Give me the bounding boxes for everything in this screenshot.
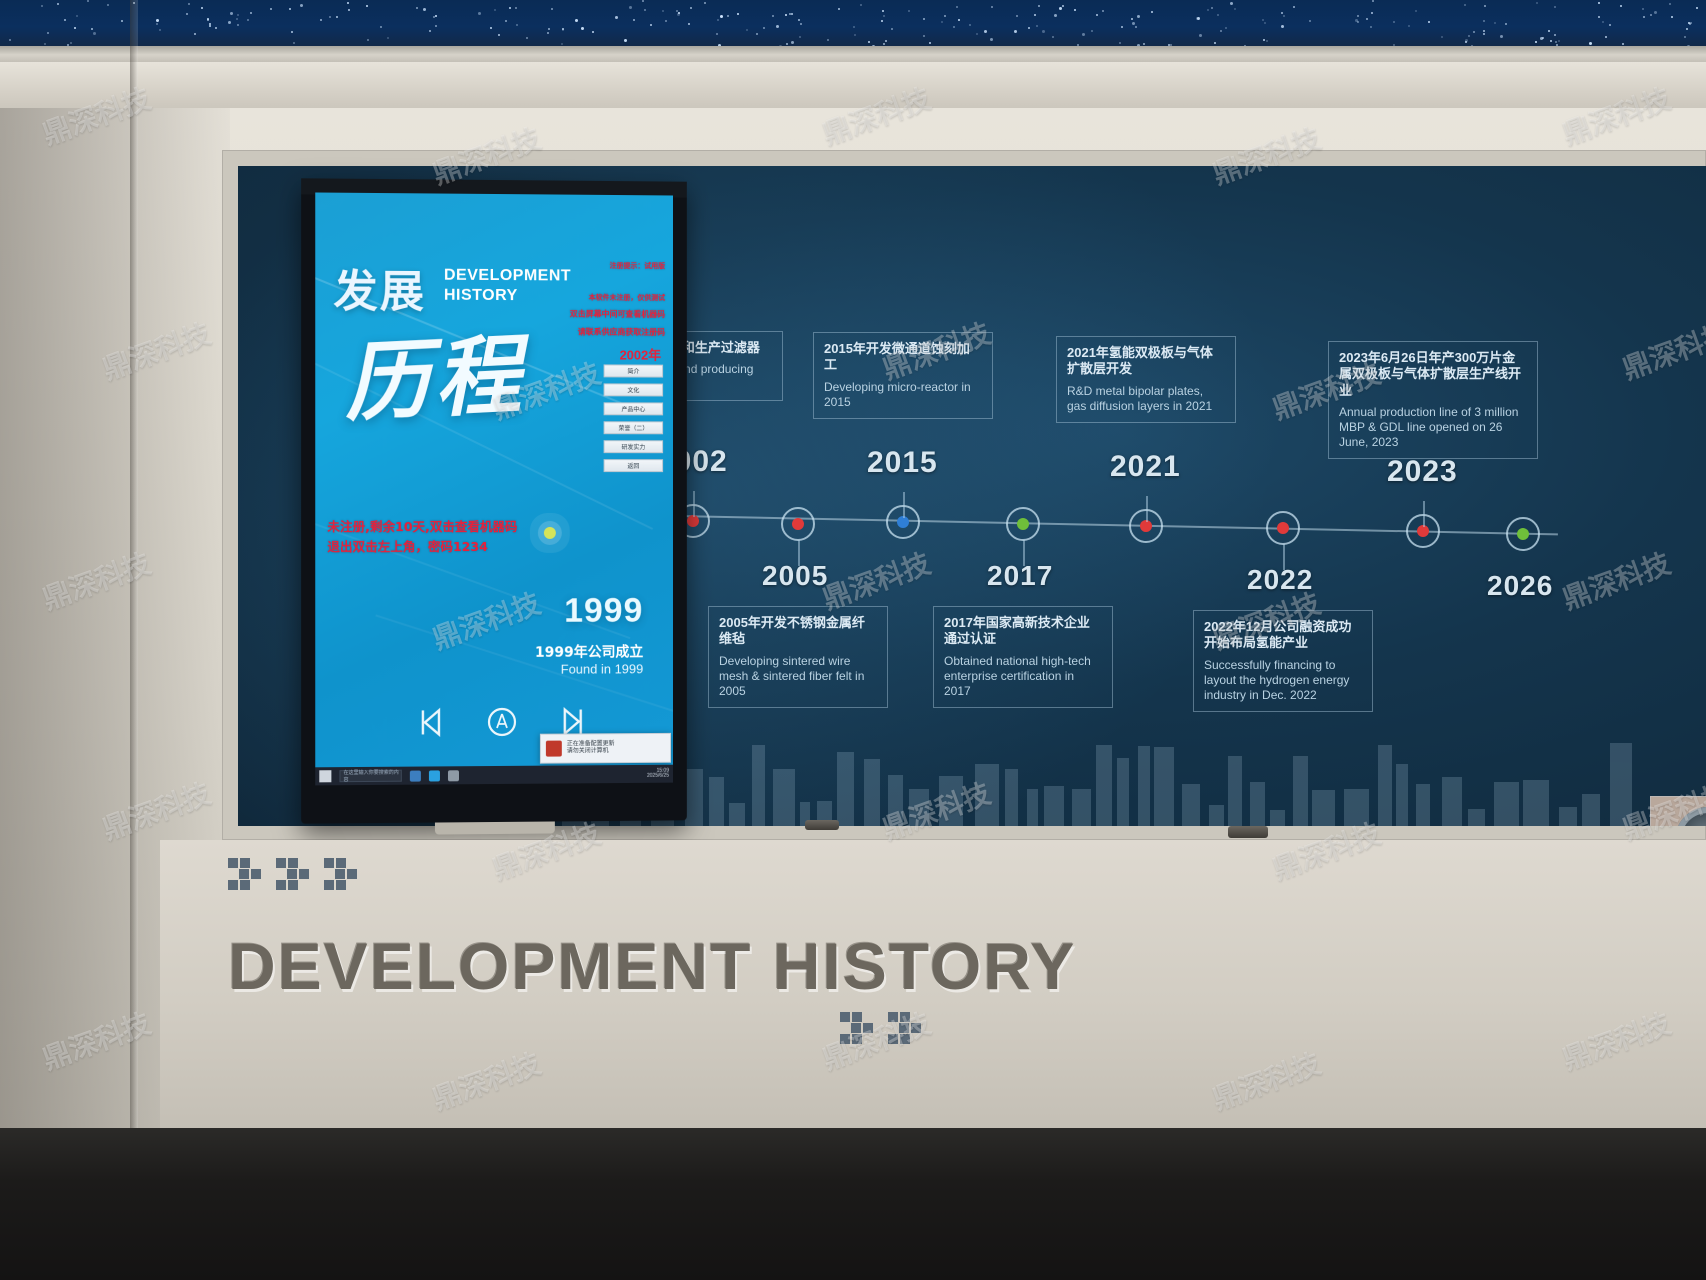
timeline-year-2026: 2026 [1487,570,1553,602]
selected-year-zh: 1999年公司成立 [535,641,643,661]
trial-overlay-line-2: 本软件未注册，仅供测试 [589,293,665,303]
app-menu-item-4[interactable]: 研发实力 [604,440,664,453]
timeline-stem [1283,544,1285,570]
chevron-row-bottom [840,1012,922,1046]
timeline-pulse-dot [544,527,556,539]
monitor-stand [435,821,555,834]
taskbar-clock[interactable]: 15:09 2025/6/25 [647,768,669,779]
floor [0,1128,1706,1280]
taskbar-search-input[interactable]: 在这里输入你要搜索的内容 [339,770,401,783]
timeline-card-en: R&D metal bipolar plates, gas diffusion … [1067,384,1225,414]
timeline-year-2017: 2017 [987,560,1053,592]
explorer-icon[interactable] [410,770,421,781]
timeline-card-en: Developing sintered wire mesh & sintered… [719,654,877,699]
timeline-node-ring [781,507,815,541]
trial-overlay-line-4: 请联系供应商获取注册码 [578,326,665,337]
timeline-card-en: Obtained national high-tech enterprise c… [944,654,1102,699]
chevron-icon [888,1012,922,1046]
timeline-card-en: Successfully financing to layout the hyd… [1204,658,1362,703]
timeline-stem [1146,496,1148,522]
chevron-icon [228,858,262,892]
timeline-card-zh: 2023年6月26日年产300万片金属双极板与气体扩散层生产线开业 [1339,350,1527,399]
toast-app-icon [546,741,562,757]
chevron-row-top [228,858,358,892]
chevron-icon [840,1012,874,1046]
timeline-year-2015: 2015 [867,446,938,480]
timeline-card-2021: 2021年氢能双极板与气体扩散层开发R&D metal bipolar plat… [1056,336,1236,423]
timeline-card-zh: 2017年国家高新技术企业通过认证 [944,615,1102,648]
timeline-node-ring [1506,517,1540,551]
timeline-node-dot [1517,528,1529,540]
bipolar-plate-icon [1675,807,1706,826]
trial-overlay-line-1: 注册提示：试用版 [610,261,666,271]
app-menu-item-2[interactable]: 产品中心 [604,402,664,415]
timeline-card-en: Annual production line of 3 million MBP … [1339,405,1527,450]
timeline-stem [903,492,905,518]
trial-warning-line-2: 退出双击左上角，密码1234 [327,536,487,555]
app-title-en: DEVELOPMENT HISTORY [444,266,584,307]
timeline-photo [1650,796,1706,826]
timeline-node-dot [1277,522,1289,534]
selected-year: 1999 [564,592,643,631]
timeline-year-2021: 2021 [1110,450,1181,484]
app-menu-item-5[interactable]: 返回 [604,459,664,472]
timeline-card-en: Developing micro-reactor in 2015 [824,380,982,410]
timeline-card-2017: 2017年国家高新技术企业通过认证Obtained national high-… [933,606,1113,708]
timeline-card-zh: 2015年开发微通道蚀刻加工 [824,341,982,374]
timeline-year-2005: 2005 [762,560,828,592]
timeline-node-ring [1266,511,1300,545]
timeline-node-dot [1017,518,1029,530]
app-icon[interactable] [448,770,459,781]
timeline-node-dot [792,518,804,530]
timeline-card-2023: 2023年6月26日年产300万片金属双极板与气体扩散层生产线开业Annual … [1328,341,1538,459]
chevron-icon [324,858,358,892]
previous-icon[interactable] [412,702,452,742]
toast-text: 正在准备配置更新 请勿关闭计算机 [567,741,615,756]
timeline-card-2022: 2022年12月公司融资成功开始布局氢能产业Successfully finan… [1193,610,1373,712]
menu-year-label: 2002年 [620,345,662,364]
ledge-bracket [1228,826,1268,838]
timeline-card-zh: 2022年12月公司融资成功开始布局氢能产业 [1204,619,1362,652]
clock-date: 2025/6/25 [647,774,669,780]
timeline-card-zh: 2021年氢能双极板与气体扩散层开发 [1067,345,1225,378]
timeline-stem [1423,501,1425,527]
browser-icon[interactable] [429,770,440,781]
timeline-card-2015: 2015年开发微通道蚀刻加工Developing micro-reactor i… [813,332,993,419]
app-title-en-line2: HISTORY [444,287,518,304]
vertical-lcd-monitor[interactable]: 发展 DEVELOPMENT HISTORY 历程 注册提示：试用版 本软件未注… [301,178,687,823]
start-button-icon[interactable] [319,770,331,782]
windows-taskbar[interactable]: 在这里输入你要搜索的内容 15:09 2025/6/25 [315,765,673,786]
timeline-stem [1023,540,1025,566]
app-script-zh: 历程 [340,305,527,439]
chevron-icon [276,858,310,892]
timeline-card-zh: 2005年开发不锈钢金属纤维毡 [719,615,877,648]
wall-sign-title: DEVELOPMENT HISTORY [228,928,1076,1004]
home-icon[interactable] [482,702,522,742]
trial-overlay-line-3: 双击屏幕中间可查看机器码 [570,308,665,319]
app-menu-item-0[interactable]: 简介 [604,364,664,377]
app-title-en-line1: DEVELOPMENT [444,267,571,285]
skyline-graphic [538,736,1638,826]
app-menu-list[interactable]: 简介文化产品中心荣誉（二）研发实力返回 [604,364,664,478]
timeline-card-2005: 2005年开发不锈钢金属纤维毡Developing sintered wire … [708,606,888,708]
timeline-year-2023: 2023 [1387,455,1458,489]
toast-body: 请勿关闭计算机 [567,748,615,755]
exhibition-scene: 20022002年开发和生产过滤器Developing and producin… [0,0,1706,1280]
wall-seam [130,0,138,1190]
timeline-node-ring [1006,507,1040,541]
timeline-year-2022: 2022 [1247,564,1313,596]
selected-year-en: Found in 1999 [561,661,644,676]
trial-warning-line-1: 未注册,剩余10天,双击查看机器码 [327,516,517,535]
app-menu-item-3[interactable]: 荣誉（二） [604,421,664,434]
timeline-stem [798,540,800,566]
timeline-stem [693,491,695,517]
windows-toast[interactable]: 正在准备配置更新 请勿关闭计算机 [540,733,671,764]
monitor-screen[interactable]: 发展 DEVELOPMENT HISTORY 历程 注册提示：试用版 本软件未注… [315,192,673,785]
app-menu-item-1[interactable]: 文化 [604,383,664,396]
ledge-sensor [805,820,839,830]
